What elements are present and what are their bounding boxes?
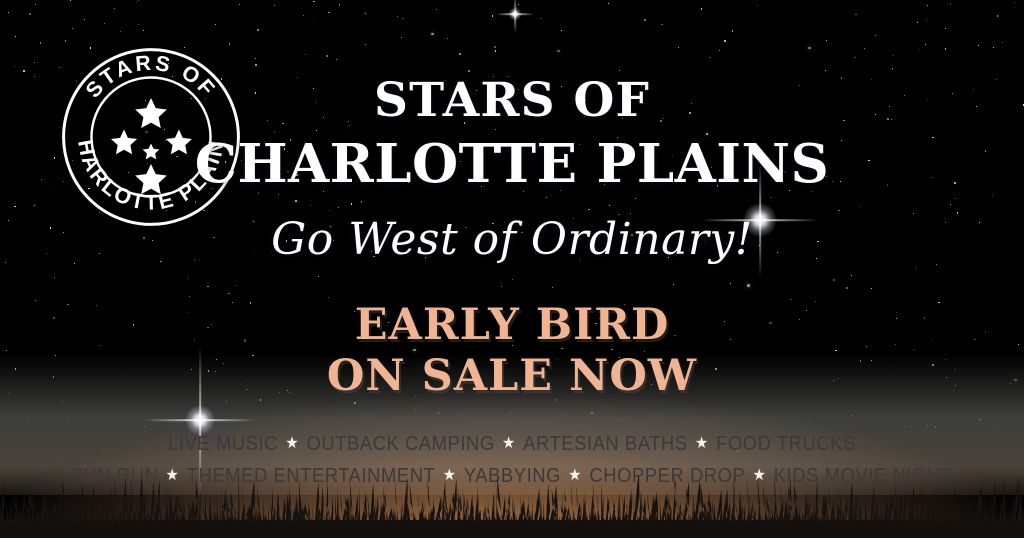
feature-separator-star-icon: ★ bbox=[435, 467, 463, 484]
features-row-1: LIVE MUSIC★OUTBACK CAMPING★ARTESIAN BATH… bbox=[41, 428, 983, 460]
page-title: STARS OF CHARLOTTE PLAINS bbox=[0, 72, 1024, 197]
feature-item: KIDS MOVIE NIGHT bbox=[774, 465, 953, 487]
feature-item: FOOD TRUCKS bbox=[716, 433, 856, 455]
features-row-2: FUN RUN★THEMED ENTERTAINMENT★YABBYING★CH… bbox=[41, 460, 983, 492]
feature-item: CHOPPER DROP bbox=[589, 465, 745, 487]
feature-separator-star-icon: ★ bbox=[278, 435, 306, 452]
event-promo-poster: STARS OF CHARLOTTE PLAINS STARS OF CHARL… bbox=[0, 0, 1024, 538]
feature-item: OUTBACK CAMPING bbox=[306, 433, 494, 455]
feature-separator-star-icon: ★ bbox=[495, 435, 523, 452]
feature-separator-star-icon: ★ bbox=[745, 467, 773, 484]
feature-item: YABBYING bbox=[464, 465, 561, 487]
feature-item: LIVE MUSIC bbox=[168, 433, 278, 455]
feature-separator-star-icon: ★ bbox=[158, 467, 186, 484]
feature-item: FUN RUN bbox=[72, 465, 159, 487]
feature-separator-star-icon: ★ bbox=[688, 435, 716, 452]
feature-item: THEMED ENTERTAINMENT bbox=[187, 465, 436, 487]
promo-banner: EARLY BIRD ON SALE NOW bbox=[0, 300, 1024, 401]
promo-line-1: EARLY BIRD bbox=[0, 300, 1024, 351]
promo-line-2: ON SALE NOW bbox=[0, 351, 1024, 402]
feature-item: ARTESIAN BATHS bbox=[523, 433, 688, 455]
headline-line-1: STARS OF bbox=[0, 72, 1024, 131]
tagline: Go West of Ordinary! bbox=[0, 214, 1024, 265]
features-list: LIVE MUSIC★OUTBACK CAMPING★ARTESIAN BATH… bbox=[0, 428, 1024, 493]
feature-separator-star-icon: ★ bbox=[561, 467, 589, 484]
headline-line-2: CHARLOTTE PLAINS bbox=[0, 131, 1024, 197]
